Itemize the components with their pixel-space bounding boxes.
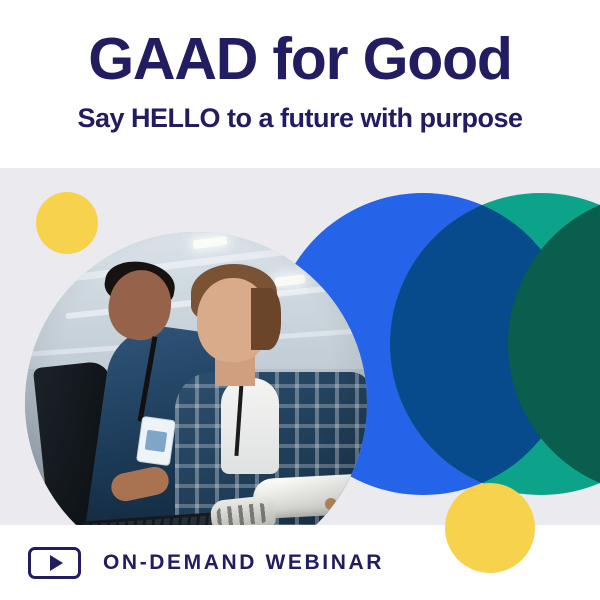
play-icon xyxy=(28,547,81,579)
poster: GAAD for Good Say HELLO to a future with… xyxy=(0,0,600,600)
yellow-dot-bottom-shape xyxy=(445,483,535,573)
graphic-band xyxy=(0,168,600,525)
webinar-label: ON-DEMAND WEBINAR xyxy=(103,551,384,575)
page-title: GAAD for Good xyxy=(88,30,512,89)
webinar-badge: ON-DEMAND WEBINAR xyxy=(28,547,384,579)
play-triangle-icon xyxy=(50,555,63,571)
photo-circle xyxy=(25,232,367,525)
photo-image xyxy=(25,232,367,525)
page-subtitle: Say HELLO to a future with purpose xyxy=(77,105,522,132)
header: GAAD for Good Say HELLO to a future with… xyxy=(0,0,600,168)
